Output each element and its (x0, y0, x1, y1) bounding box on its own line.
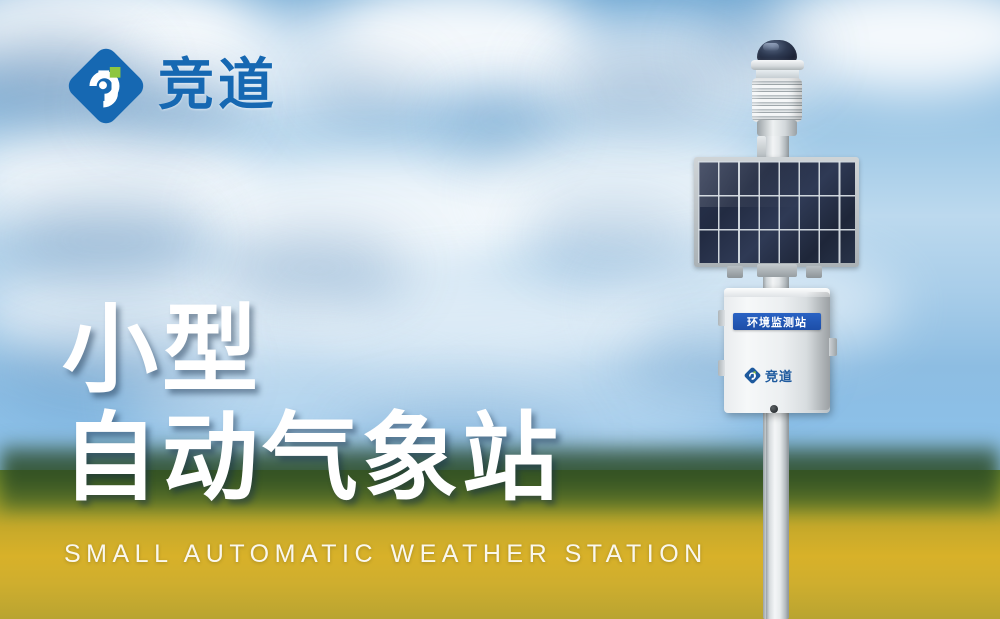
tree-background (805, 70, 1000, 490)
control-box (724, 288, 830, 413)
radiation-shield-icon (752, 78, 802, 122)
sensor-cap-icon (751, 60, 804, 70)
brand-logo[interactable]: 竞道 (68, 48, 278, 124)
control-box-top-edge (724, 288, 830, 297)
mounting-mast-lower-icon (766, 410, 788, 619)
solar-panel-icon (694, 157, 859, 267)
hero-title-line-2: 自动气象站 (62, 404, 562, 512)
hero-title: 小型 自动气象站 (62, 296, 562, 513)
control-box-hinge-lower (718, 360, 725, 376)
control-box-brand-text: 竞道 (765, 366, 793, 385)
control-box-label: 环境监测站 (733, 313, 821, 330)
solar-panel-bracket-right (806, 266, 822, 278)
solar-panel-cells (698, 161, 855, 263)
control-box-hinge-upper (718, 310, 725, 326)
hero-banner: 环境监测站 竞道 (0, 0, 1000, 619)
brand-logo-text: 竞道 (158, 58, 278, 114)
control-box-latch (829, 338, 837, 356)
dome-highlight (763, 43, 779, 51)
jingdao-diamond-logo-icon (68, 48, 144, 124)
jingdao-diamond-icon (744, 367, 761, 384)
solar-panel-bracket-left (727, 266, 743, 278)
radiation-shield-base-icon (757, 120, 797, 136)
control-box-screw (770, 405, 778, 413)
sensor-clamp-icon (757, 136, 766, 158)
hero-subtitle: SMALL AUTOMATIC WEATHER STATION (64, 540, 708, 569)
hero-title-line-1: 小型 (62, 296, 562, 404)
control-box-logo: 竞道 (744, 366, 793, 385)
solar-panel-mount (757, 264, 797, 277)
